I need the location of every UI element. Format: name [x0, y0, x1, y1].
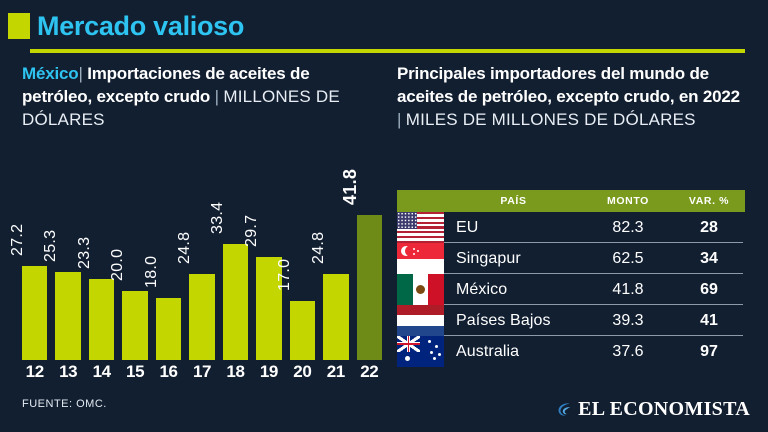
bar-chart-x-axis: 1213141516171819202122 [22, 362, 382, 382]
subtitle-country: México [22, 64, 78, 83]
table-cell-amount: 62.5 [583, 243, 673, 274]
table-title: Principales importadores del mundo de ac… [397, 62, 747, 131]
header: Mercado valioso [0, 0, 768, 55]
table-cell-amount: 39.3 [583, 305, 673, 336]
table-title-separator: | [397, 110, 401, 129]
flag-united-states-icon [397, 212, 444, 243]
table-cell-var: 97 [673, 336, 745, 367]
table-cell-var: 34 [673, 243, 745, 274]
subtitle-separator-1: | [78, 64, 82, 83]
table-header-amount: MONTO [583, 195, 673, 207]
bar-value-label: 24.8 [176, 232, 194, 264]
table-cell-var: 41 [673, 305, 745, 336]
x-axis-label: 13 [55, 362, 80, 382]
bar-value-label: 18.0 [143, 255, 161, 287]
bar-value-label: 23.3 [76, 237, 94, 269]
bar-value-label: 29.7 [243, 215, 261, 247]
right-panel-title: Principales importadores del mundo de ac… [397, 62, 747, 131]
globe-swirl-icon [556, 401, 573, 418]
flag-singapore-icon [397, 243, 444, 274]
bar-rect [22, 266, 47, 360]
table-cell-country: México [444, 274, 583, 305]
bar-rect [189, 274, 214, 360]
bar-rect [290, 301, 315, 360]
flag-australia-icon [397, 336, 444, 367]
page-title: Mercado valioso [37, 8, 244, 44]
bar-chart-bars: 27.225.323.320.018.024.833.429.717.024.8… [22, 160, 382, 360]
table-cell-country: EU [444, 212, 583, 243]
bar-value-label: 25.3 [42, 230, 60, 262]
bar-value-label: 17.0 [276, 259, 294, 291]
bar-rect [122, 291, 147, 360]
importers-table: PAÍS MONTO VAR. % EU82.328Singapur62.534… [397, 190, 745, 367]
table-cell-country: Singapur [444, 243, 583, 274]
table-cell-amount: 37.6 [583, 336, 673, 367]
bar-rect [357, 215, 382, 360]
table-row[interactable]: Países Bajos39.341 [397, 305, 745, 336]
bar-rect [323, 274, 348, 360]
table-title-unit: MILES DE MILLONES DE DÓLARES [406, 110, 696, 129]
table-row[interactable]: Singapur62.534 [397, 243, 745, 274]
bar-chart: 27.225.323.320.018.024.833.429.717.024.8… [22, 160, 382, 360]
x-axis-label: 22 [357, 362, 382, 382]
brand-logo: EL ECONOMISTA [556, 398, 750, 421]
table-row[interactable]: EU82.328 [397, 212, 745, 243]
logo-text: EL ECONOMISTA [578, 398, 750, 421]
bar-column: 24.8 [189, 160, 214, 360]
left-panel-subtitle: México| Importaciones de aceites de petr… [22, 62, 382, 131]
table-cell-flag [397, 336, 444, 367]
table-cell-flag [397, 305, 444, 336]
subtitle-separator-2: | [215, 87, 219, 106]
x-axis-label: 14 [89, 362, 114, 382]
x-axis-label: 12 [22, 362, 47, 382]
table-cell-country: Países Bajos [444, 305, 583, 336]
accent-square-icon [8, 13, 30, 39]
bar-value-label: 41.8 [340, 169, 361, 205]
x-axis-label: 16 [156, 362, 181, 382]
table-body: EU82.328Singapur62.534México41.869Países… [397, 212, 745, 367]
source-note: FUENTE: OMC. [22, 398, 107, 410]
x-axis-label: 17 [189, 362, 214, 382]
bar-value-label: 27.2 [9, 223, 27, 255]
table-header-row: PAÍS MONTO VAR. % [397, 190, 745, 212]
bar-rect [156, 298, 181, 360]
table-row[interactable]: Australia37.697 [397, 336, 745, 367]
table-cell-country: Australia [444, 336, 583, 367]
bar-rect [55, 272, 80, 360]
x-axis-label: 20 [290, 362, 315, 382]
x-axis-label: 19 [256, 362, 281, 382]
table-header-var: VAR. % [673, 195, 745, 207]
table-cell-flag [397, 212, 444, 243]
table-cell-var: 69 [673, 274, 745, 305]
x-axis-label: 21 [323, 362, 348, 382]
bar-value-label: 24.8 [310, 232, 328, 264]
table-cell-flag [397, 274, 444, 305]
table-cell-flag [397, 243, 444, 274]
table-cell-amount: 41.8 [583, 274, 673, 305]
chart-subtitle: México| Importaciones de aceites de petr… [22, 62, 382, 131]
x-axis-label: 15 [122, 362, 147, 382]
bar-rect [223, 244, 248, 360]
table-header-country: PAÍS [444, 195, 583, 207]
bar-value-label: 33.4 [209, 202, 227, 234]
table-title-text: Principales importadores del mundo de ac… [397, 64, 740, 106]
flag-netherlands-icon [397, 305, 444, 336]
table-cell-amount: 82.3 [583, 212, 673, 243]
header-divider [30, 49, 745, 53]
flag-mexico-icon [397, 274, 444, 305]
x-axis-label: 18 [223, 362, 248, 382]
bar-column: 41.8 [357, 160, 382, 360]
table-cell-var: 28 [673, 212, 745, 243]
table-row[interactable]: México41.869 [397, 274, 745, 305]
bar-value-label: 20.0 [109, 248, 127, 280]
bar-column: 33.4 [223, 160, 248, 360]
bar-rect [89, 279, 114, 360]
